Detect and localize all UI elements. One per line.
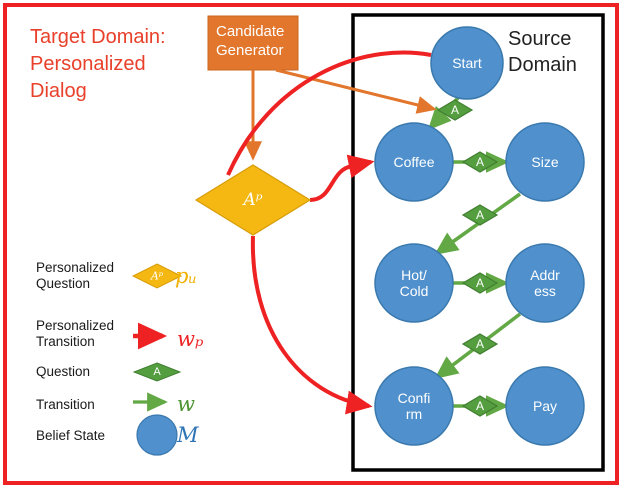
legend-belief-state-icon: [137, 415, 177, 455]
legend-personalized-question-glyph-label: Aᵖ: [151, 270, 163, 283]
legend-symbol-belief-state: M: [177, 423, 199, 447]
belief-state-hotcold[interactable]: [375, 244, 453, 322]
belief-state-coffee[interactable]: [375, 123, 453, 201]
belief-state-confirm[interactable]: [375, 367, 453, 445]
belief-state-start[interactable]: [431, 27, 503, 99]
legend-label-question: Question: [36, 364, 132, 380]
legend-question-glyph-label: A: [153, 366, 160, 378]
diagram-canvas: Target Domain: Personalized Dialog Sourc…: [0, 0, 626, 492]
source-domain-title: Source Domain: [508, 26, 603, 78]
legend-label-belief-state: Belief State: [36, 428, 132, 444]
legend-label-personalized-question: Personalized Question: [36, 260, 132, 291]
question-label-start-coffee: A: [451, 103, 459, 117]
personalized-question-label: Aᵖ: [243, 190, 262, 210]
belief-state-address[interactable]: [506, 244, 584, 322]
question-label-address-confirm: A: [476, 337, 484, 351]
target-domain-title: Target Domain: Personalized Dialog: [30, 24, 220, 105]
legend-symbol-personalized-question: pᵤ: [175, 264, 197, 288]
candidate-generator-label: Candidate Generator: [216, 22, 296, 60]
legend-symbol-transition: w: [177, 392, 195, 416]
legend-label-personalized-transition: Personalized Transition: [36, 318, 132, 349]
belief-state-size[interactable]: [506, 123, 584, 201]
legend-label-transition: Transition: [36, 397, 132, 413]
legend-symbol-personalized-transition: wₚ: [177, 327, 203, 351]
question-label-size-hotcold: A: [476, 208, 484, 222]
question-label-confirm-pay: A: [476, 399, 484, 413]
question-label-hotcold-address: A: [476, 276, 484, 290]
belief-state-pay[interactable]: [506, 367, 584, 445]
question-label-coffee-size: A: [476, 155, 484, 169]
